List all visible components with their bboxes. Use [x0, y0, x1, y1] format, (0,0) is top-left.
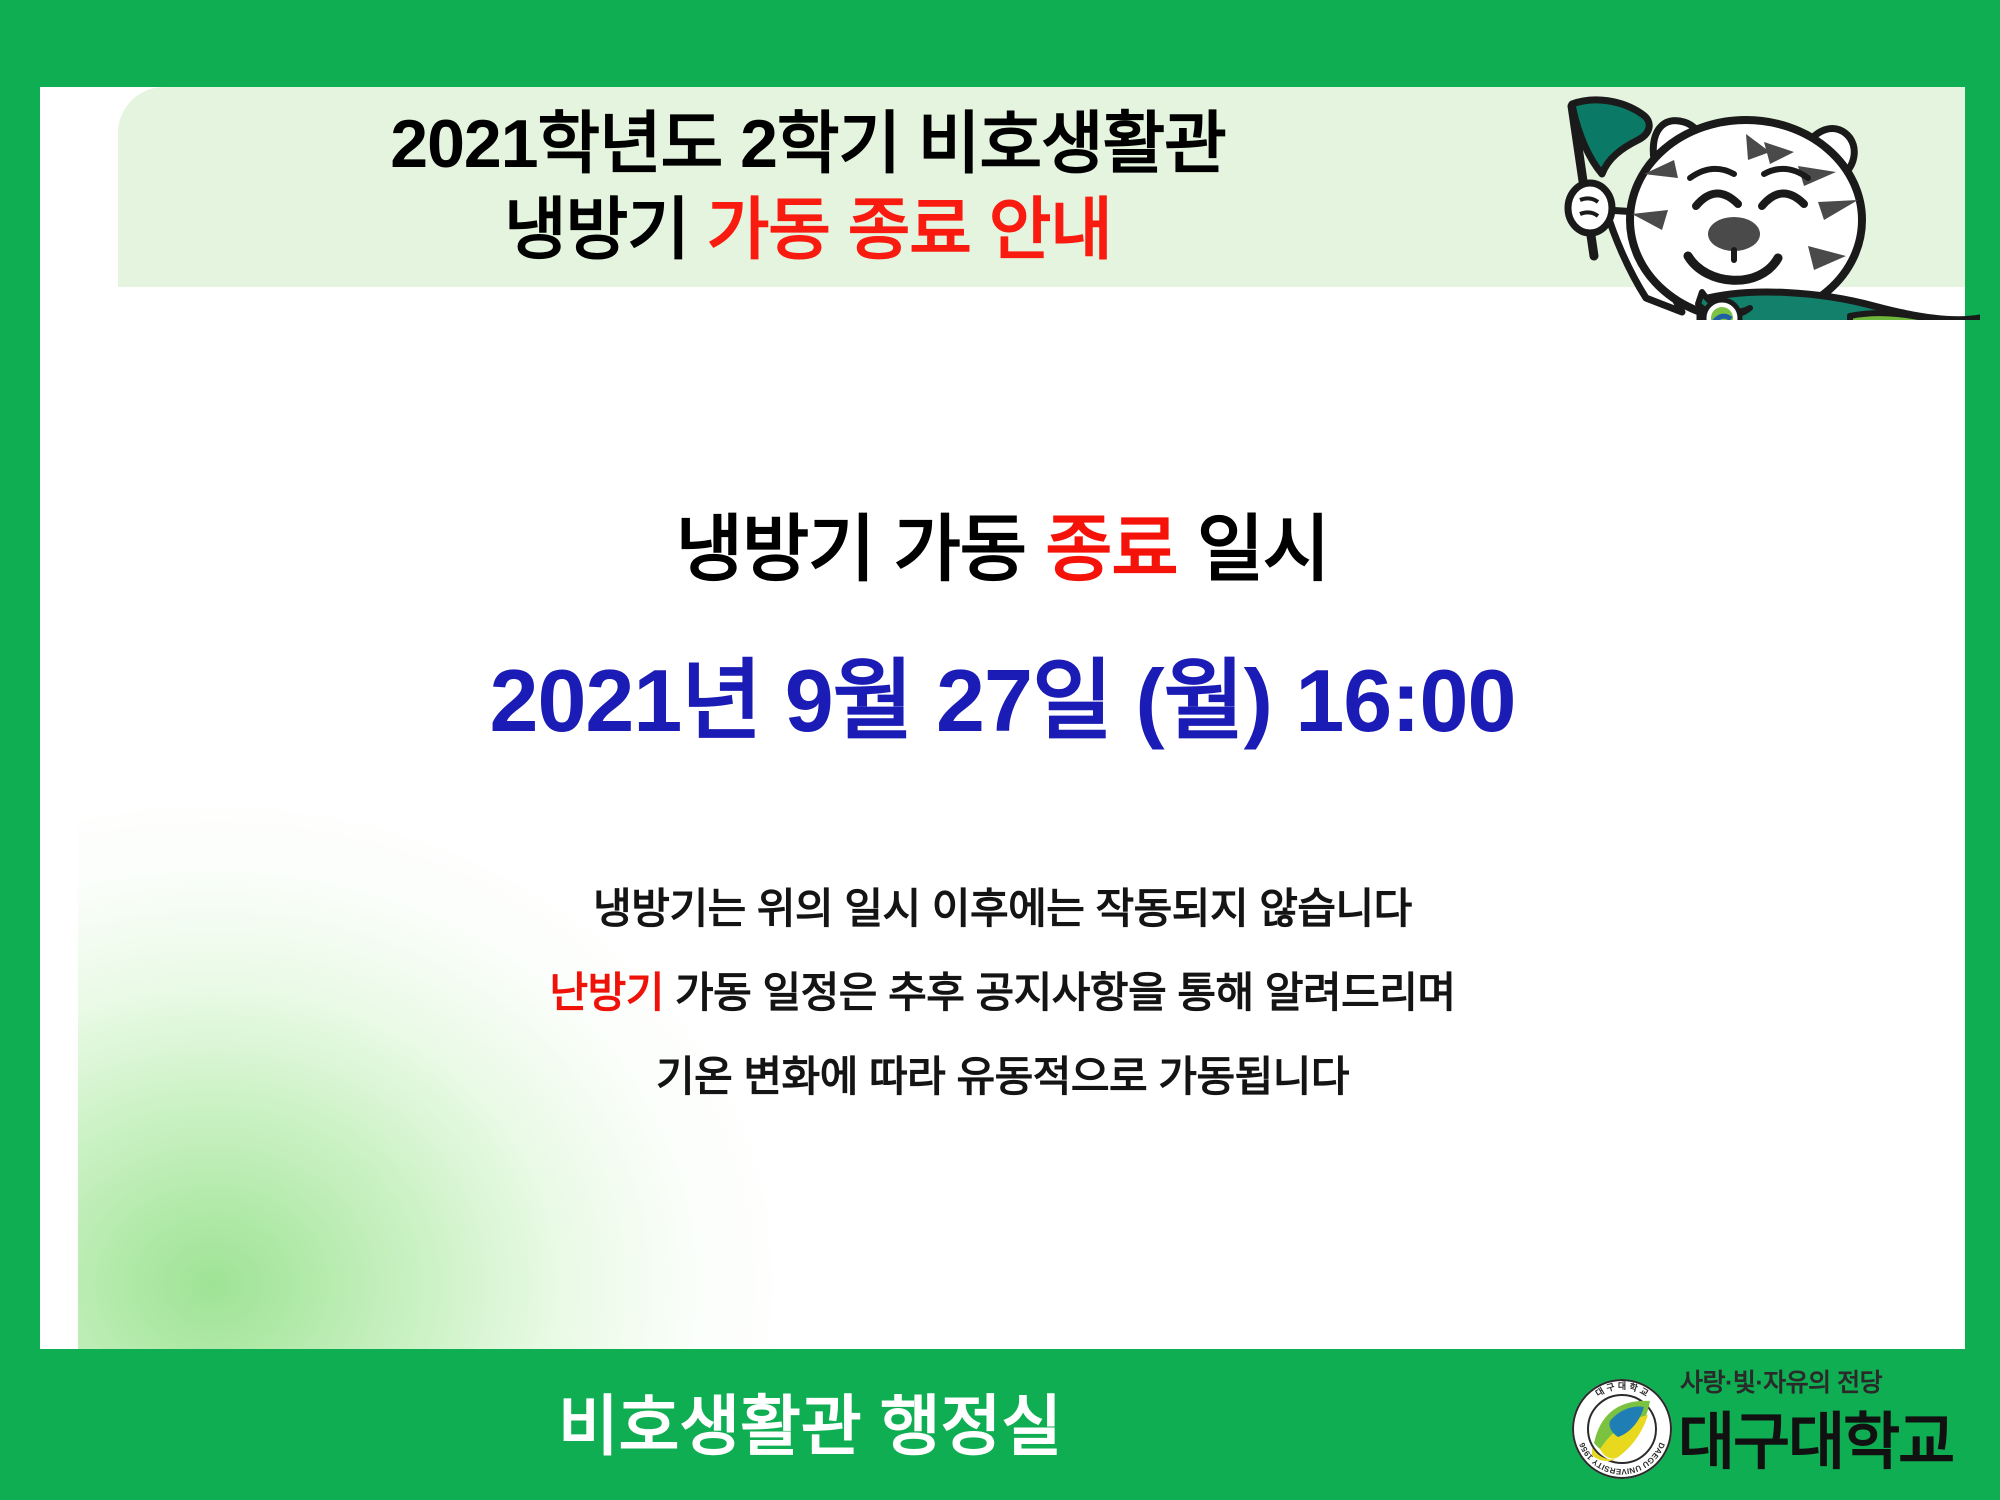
issuing-office: 비호생활관 행정실 — [0, 1373, 1620, 1469]
title-line-2-highlight: 가동 종료 안내 — [707, 192, 1112, 268]
heading-prefix: 냉방기 가동 — [676, 509, 1045, 590]
footer-bar: 비호생활관 행정실 — [0, 1349, 2000, 1500]
section-heading: 냉방기 가동 종료 일시 — [40, 490, 1965, 596]
poster-root: 2021학년도 2학기 비호생활관 냉방기 가동 종료 안내 — [0, 0, 2000, 1500]
title-line-2-plain: 냉방기 — [504, 192, 707, 268]
title-line-1: 2021학년도 2학기 비호생활관 — [118, 101, 1498, 187]
daegu-university-seal-icon: 대 구 대 학 교 DAEGU UNIVERSITY 1956 — [1570, 1377, 1674, 1481]
note-text: 냉방기는 위의 일시 이후에는 작동되지 않습니다 — [593, 885, 1412, 932]
shutdown-datetime: 2021년 9월 27일 (월) 16:00 — [40, 630, 1965, 757]
title-line-2: 냉방기 가동 종료 안내 — [118, 187, 1498, 273]
note-text: 기온 변화에 따라 유동적으로 가동됩니다 — [656, 1053, 1349, 1100]
note-line: 냉방기는 위의 일시 이후에는 작동되지 않습니다 — [40, 888, 1965, 930]
notes-list: 냉방기는 위의 일시 이후에는 작동되지 않습니다 난방기 가동 일정은 추후 … — [40, 888, 1965, 1098]
note-highlight: 난방기 — [549, 969, 663, 1016]
heading-highlight: 종료 — [1045, 509, 1177, 590]
heading-suffix: 일시 — [1178, 509, 1330, 590]
university-name: 대구대학교 — [1678, 1391, 1998, 1481]
note-line: 기온 변화에 따라 유동적으로 가동됩니다 — [40, 1056, 1965, 1098]
university-logo-block: 대 구 대 학 교 DAEGU UNIVERSITY 1956 사랑·빛·자유의… — [1560, 1355, 1990, 1495]
note-text: 가동 일정은 추후 공지사항을 통해 알려드리며 — [664, 969, 1456, 1016]
note-line: 난방기 가동 일정은 추후 공지사항을 통해 알려드리며 — [40, 972, 1965, 1014]
page-title: 2021학년도 2학기 비호생활관 냉방기 가동 종료 안내 — [118, 101, 1498, 274]
title-banner: 2021학년도 2학기 비호생활관 냉방기 가동 종료 안내 — [118, 87, 1965, 287]
title-banner-right-fill — [1535, 87, 1965, 287]
